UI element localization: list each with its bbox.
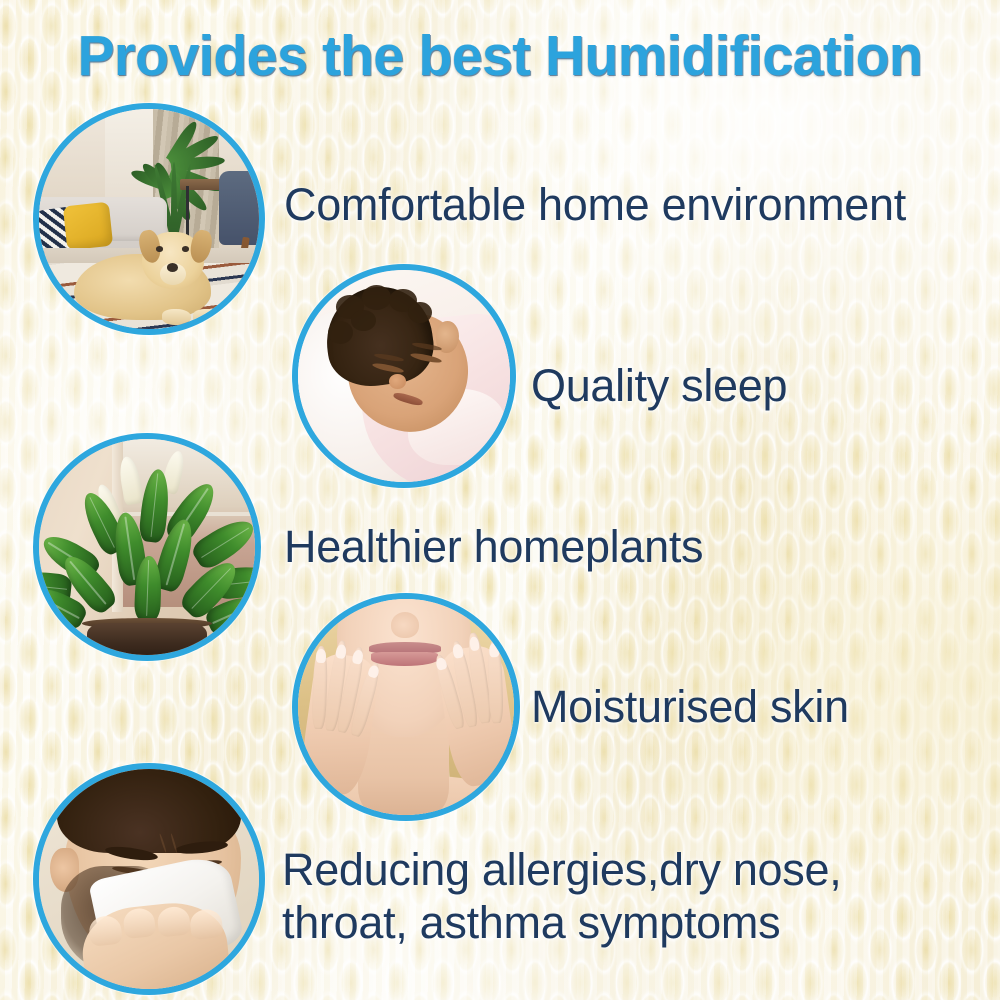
- dog-paw: [162, 309, 191, 324]
- benefit-caption-comfortable-home-environment: Comfortable home environment: [284, 181, 906, 230]
- nose: [391, 612, 419, 638]
- benefit-caption-reducing-allergies: Reducing allergies,dry nose, throat, ast…: [282, 843, 841, 949]
- photo-circle-reducing-allergies: [33, 763, 265, 995]
- hair: [57, 769, 242, 853]
- photo-peace-lily: [39, 439, 255, 655]
- plant-pot: [87, 623, 208, 655]
- product-benefits-poster: Provides the best Humidification: [0, 0, 1000, 1000]
- benefit-caption-moisturised-skin: Moisturised skin: [531, 683, 849, 732]
- dog-nose: [167, 263, 178, 272]
- dog-eye: [156, 246, 163, 252]
- dog-paw: [193, 309, 222, 324]
- photo-circle-quality-sleep: [292, 264, 516, 488]
- photo-circle-comfortable-home-environment: [33, 103, 265, 335]
- yellow-cushion: [63, 201, 114, 250]
- armchair: [219, 171, 259, 246]
- photo-circle-healthier-homeplants: [33, 433, 261, 661]
- photo-sleeping-baby: [298, 270, 510, 482]
- benefit-caption-quality-sleep: Quality sleep: [531, 362, 787, 411]
- photo-circle-moisturised-skin: [292, 593, 520, 821]
- baby-nose: [389, 374, 406, 389]
- photo-man-blowing-nose: [39, 769, 259, 989]
- lips: [369, 642, 440, 666]
- photo-living-room-dog: [39, 109, 259, 329]
- photo-woman-face: [298, 599, 514, 815]
- benefit-caption-healthier-homeplants: Healthier homeplants: [284, 523, 703, 572]
- lower-lip: [371, 652, 438, 666]
- page-title: Provides the best Humidification: [15, 24, 985, 88]
